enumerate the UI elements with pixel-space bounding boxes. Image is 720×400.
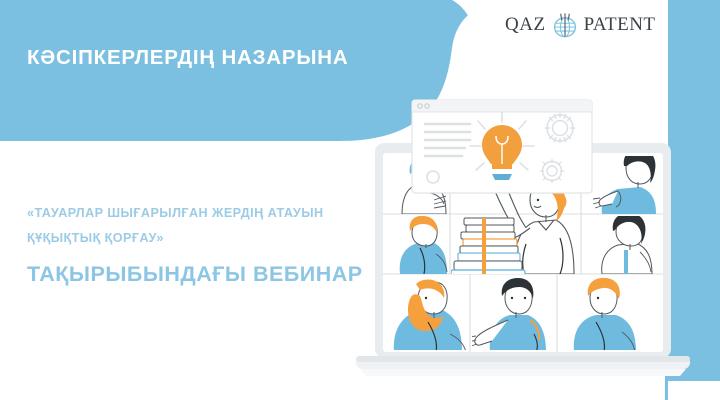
webinar-subtitle-line-2: ҚҰҚЫҚТЫҚ ҚОРҒАУ»	[27, 226, 387, 251]
logo-word-patent: PATENT	[584, 14, 656, 36]
poster-canvas: КӘСІПКЕРЛЕРДІҢ НАЗАРЫНА QAZ PATENT «ТАУА…	[0, 0, 720, 400]
globe-meridian-icon	[550, 12, 580, 38]
qazpatent-logo[interactable]: QAZ PATENT	[505, 12, 656, 38]
logo-word-qaz: QAZ	[505, 14, 546, 36]
online-webinar-laptop-illustration	[350, 88, 700, 400]
webinar-subtitle: «ТАУАРЛАР ШЫҒАРЫЛҒАН ЖЕРДІҢ АТАУЫН ҚҰҚЫҚ…	[27, 201, 387, 250]
page-title: КӘСІПКЕРЛЕРДІҢ НАЗАРЫНА	[27, 46, 348, 70]
floating-browser-window	[412, 100, 592, 193]
webinar-subtitle-line-1: «ТАУАРЛАР ШЫҒАРЫЛҒАН ЖЕРДІҢ АТАУЫН	[27, 201, 387, 226]
